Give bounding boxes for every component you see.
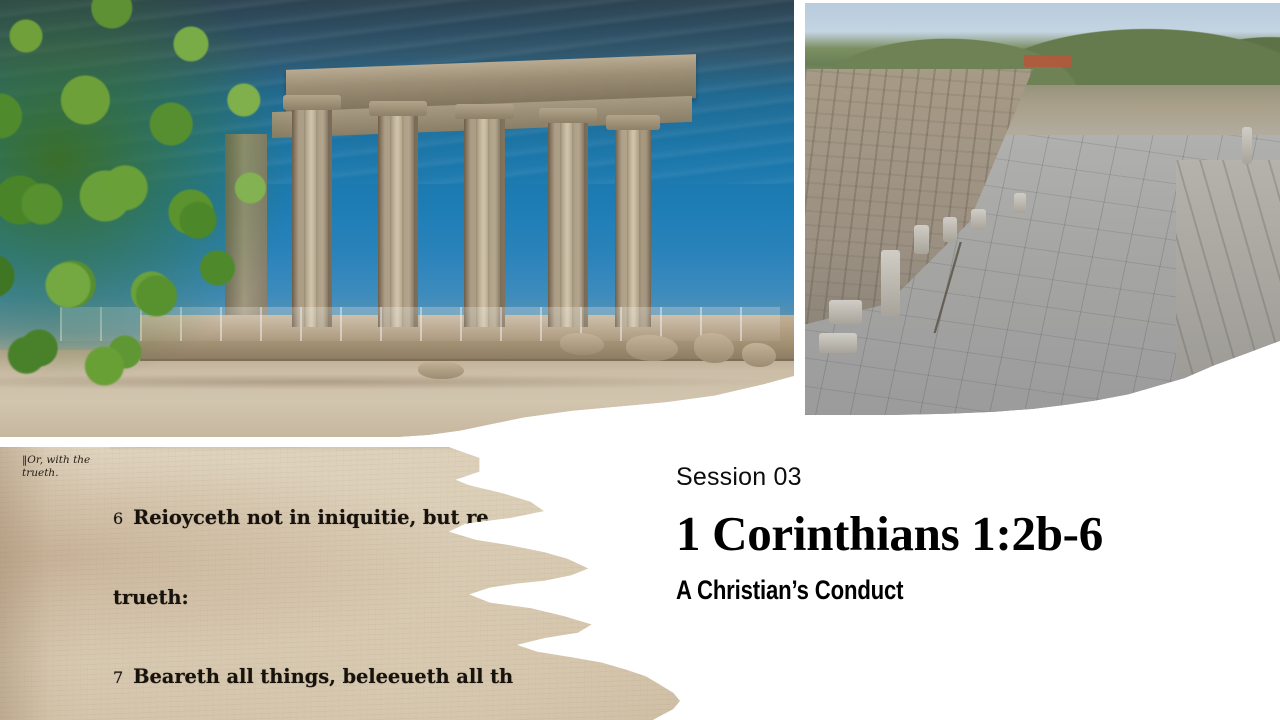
column-capital (539, 108, 597, 123)
bible-body-text: 6Reioyceth not in iniquitie, but re true… (113, 453, 673, 720)
doric-column (615, 129, 651, 327)
foreground-tree-lower (0, 150, 250, 420)
doric-column (548, 122, 588, 327)
verse-text: Beareth all things, beleeueth all th (133, 665, 513, 688)
image-lechaion-road-corinth (805, 3, 1280, 415)
stone-rubble (694, 333, 734, 363)
page-title: 1 Corinthians 1:2b-6 (676, 506, 1246, 562)
bible-line: 7Beareth all things, beleeueth all th (113, 664, 673, 691)
doric-column (464, 118, 505, 327)
column-capital (455, 104, 514, 119)
verse-number: 6 (113, 509, 133, 528)
column-capital (283, 95, 341, 110)
doric-column (292, 109, 332, 327)
stone-rubble (742, 343, 776, 367)
stone-rubble (560, 333, 604, 355)
doric-column (378, 115, 418, 327)
stone-rubble (418, 361, 464, 379)
right-side-kerb (1176, 160, 1280, 399)
slide-subtitle: A Christian’s Conduct (676, 574, 1143, 606)
bible-margin-note: ‖Or, with the trueth. (22, 454, 108, 480)
column-fragment (943, 217, 957, 242)
red-roof-building (1024, 55, 1072, 67)
column-capital (369, 101, 427, 116)
bible-line: 6Reioyceth not in iniquitie, but re (113, 505, 673, 532)
page-gutter-shadow (0, 447, 90, 720)
image-kjv-bible-page: ‖Or, with the trueth. 6Reioyceth not in … (0, 447, 680, 720)
verse-number: 7 (113, 668, 133, 687)
column-fragment (914, 225, 928, 254)
image-temple-of-apollo-corinth (0, 0, 794, 437)
column-fragment (881, 250, 900, 316)
session-label: Session 03 (676, 462, 1246, 492)
column-capital (606, 115, 660, 130)
verse-text: trueth: (113, 586, 189, 609)
verse-text: Reioyceth not in iniquitie, but re (133, 506, 488, 529)
cut-off-text-line-above (110, 447, 540, 451)
stone-rubble (626, 335, 678, 361)
standing-column (1242, 127, 1252, 164)
stone-block (819, 333, 857, 354)
column-fragment (1014, 193, 1026, 214)
presentation-slide: ‖Or, with the trueth. 6Reioyceth not in … (0, 0, 1280, 720)
stone-block (829, 300, 862, 325)
slide-text-block: Session 03 1 Corinthians 1:2b-6 A Christ… (676, 462, 1246, 606)
column-fragment (971, 209, 985, 230)
bible-line: trueth: (113, 585, 673, 611)
